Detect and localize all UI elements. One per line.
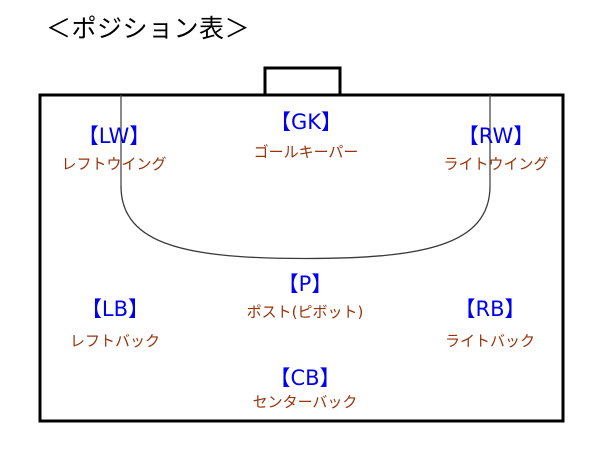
position-name-rw: ライトウイング bbox=[396, 154, 596, 174]
position-code-rw: 【RW】 bbox=[396, 124, 596, 148]
page-title: ＜ポジション表＞ bbox=[46, 14, 250, 44]
position-code-lb: 【LB】 bbox=[15, 297, 215, 321]
position-name-rb: ライトバック bbox=[390, 331, 590, 351]
position-name-p: ポスト(ピボット) bbox=[205, 302, 405, 322]
position-name-lw: レフトウイング bbox=[14, 154, 214, 174]
position-label-rw[interactable]: 【RW】 ライトウイング bbox=[396, 124, 596, 174]
position-code-gk: 【GK】 bbox=[206, 110, 406, 134]
position-name-lb: レフトバック bbox=[15, 331, 215, 351]
position-name-gk: ゴールキーパー bbox=[206, 142, 406, 162]
goal-rectangle bbox=[265, 68, 340, 95]
position-label-p[interactable]: 【P】 ポスト(ピボット) bbox=[205, 272, 405, 322]
position-code-rb: 【RB】 bbox=[390, 297, 590, 321]
position-chart-canvas: ＜ポジション表＞ 【LW】 レフトウイング 【GK】 ゴールキーパー 【RW】 … bbox=[0, 0, 605, 463]
position-code-cb: 【CB】 bbox=[205, 366, 405, 390]
position-name-cb: センターバック bbox=[205, 392, 405, 412]
position-label-lw[interactable]: 【LW】 レフトウイング bbox=[14, 124, 214, 174]
position-label-gk[interactable]: 【GK】 ゴールキーパー bbox=[206, 110, 406, 162]
position-code-lw: 【LW】 bbox=[14, 124, 214, 148]
position-label-cb[interactable]: 【CB】 センターバック bbox=[205, 366, 405, 412]
position-code-p: 【P】 bbox=[205, 272, 405, 296]
position-label-lb[interactable]: 【LB】 レフトバック bbox=[15, 297, 215, 351]
position-label-rb[interactable]: 【RB】 ライトバック bbox=[390, 297, 590, 351]
goal-area-arc bbox=[121, 186, 490, 259]
